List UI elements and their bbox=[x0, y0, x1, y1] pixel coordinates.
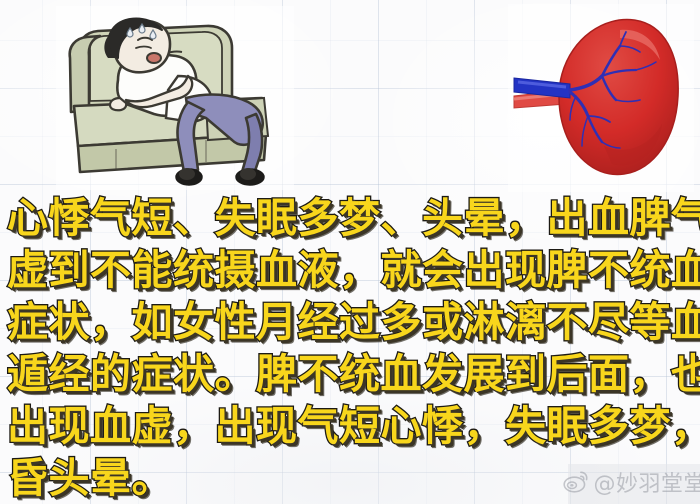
illustration-fatigued-person bbox=[56, 6, 294, 190]
caption-line-1: 心悸气短、失眠多梦、头晕，出血脾气亏 bbox=[0, 192, 700, 244]
caption-text-block: 心悸气短、失眠多梦、头晕，出血脾气亏 虚到不能统摄血液，就会出现脾不统血的 症状… bbox=[0, 192, 700, 504]
fatigued-person-on-sofa-icon bbox=[56, 6, 294, 190]
caption-line-5: 出现血虚，出现气短心悸，失眠多梦，头 bbox=[0, 400, 700, 452]
illustration-spleen bbox=[508, 4, 694, 192]
caption-line-3: 症状，如女性月经过多或淋漓不尽等血不 bbox=[0, 296, 700, 348]
watermark-backing-plate bbox=[568, 464, 700, 504]
infographic-canvas: 心悸气短、失眠多梦、头晕，出血脾气亏 虚到不能统摄血液，就会出现脾不统血的 症状… bbox=[0, 0, 700, 504]
caption-line-4: 遁经的症状。脾不统血发展到后面，也会 bbox=[0, 348, 700, 400]
caption-line-2: 虚到不能统摄血液，就会出现脾不统血的 bbox=[0, 244, 700, 296]
spleen-organ-icon bbox=[508, 4, 694, 192]
